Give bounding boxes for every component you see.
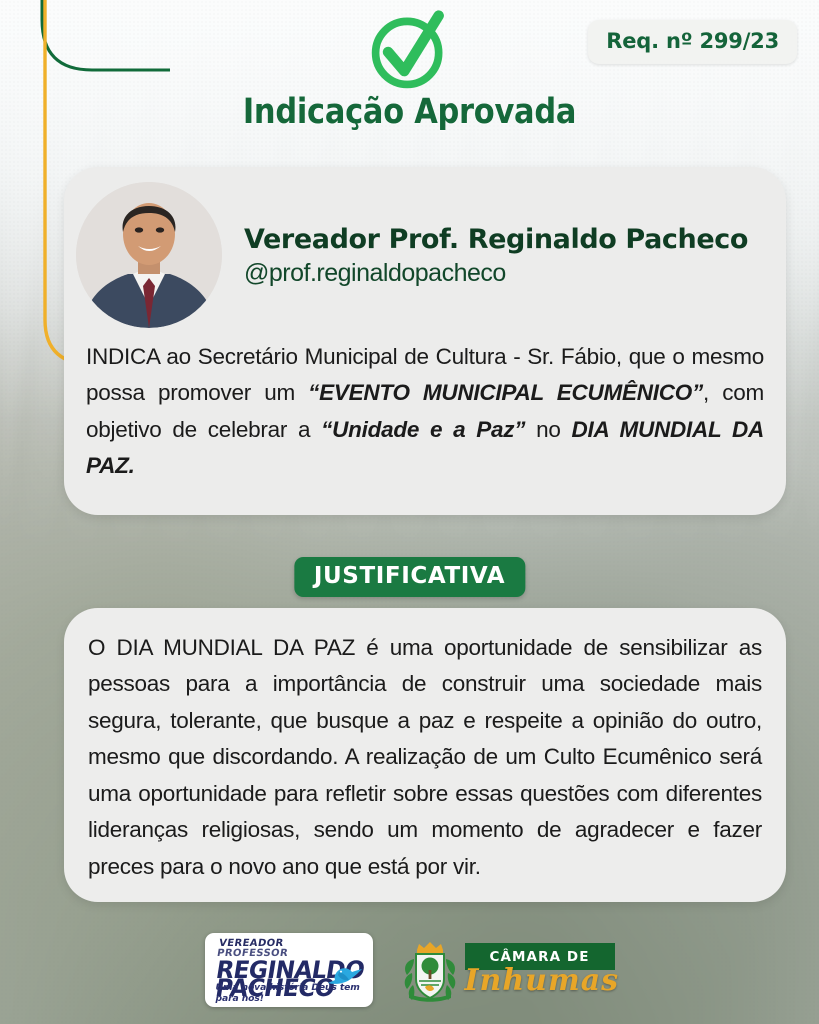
indication-segment-3: “Unidade e a Paz” <box>321 417 525 442</box>
camara-city-name: Inhumas <box>465 963 615 998</box>
profile-text: Vereador Prof. Reginaldo Pacheco @prof.r… <box>244 222 748 287</box>
avatar <box>76 182 222 328</box>
logo-camara-inhumas: CÂMARA DE Inhumas <box>399 937 615 1003</box>
logo-reginaldo-pacheco: VEREADOR PROFESSOR REGINALDO PACHECO Uma… <box>205 933 373 1007</box>
avatar-portrait-icon <box>76 182 222 328</box>
indication-segment-1: “EVENTO MUNICIPAL ECUMÊNICO” <box>308 380 703 405</box>
justificativa-badge: JUSTIFICATIVA <box>294 557 525 597</box>
profile-header: Vereador Prof. Reginaldo Pacheco @prof.r… <box>76 181 770 329</box>
poster-root: Indicação Aprovada Req. nº 299/23 <box>0 0 819 1024</box>
indication-segment-4: no <box>525 417 571 442</box>
green-check-circle-icon <box>362 8 458 94</box>
camara-wordmark: CÂMARA DE Inhumas <box>465 943 615 998</box>
profile-name: Vereador Prof. Reginaldo Pacheco <box>244 224 748 255</box>
dove-icon <box>325 963 365 993</box>
page-title: Indicação Aprovada <box>53 92 766 132</box>
indication-card: Vereador Prof. Reginaldo Pacheco @prof.r… <box>64 167 786 515</box>
poster-header: Indicação Aprovada Req. nº 299/23 <box>0 0 819 160</box>
poster-footer: VEREADOR PROFESSOR REGINALDO PACHECO Uma… <box>0 922 819 1018</box>
justificativa-text: O DIA MUNDIAL DA PAZ é uma oportunidade … <box>88 630 762 885</box>
justificativa-card: O DIA MUNDIAL DA PAZ é uma oportunidade … <box>64 608 786 902</box>
inhumas-coat-of-arms-icon <box>399 937 461 1003</box>
profile-handle: @prof.reginaldopacheco <box>244 259 748 288</box>
indication-text: INDICA ao Secretário Municipal de Cultur… <box>86 339 764 485</box>
req-number-badge: Req. nº 299/23 <box>588 20 797 64</box>
